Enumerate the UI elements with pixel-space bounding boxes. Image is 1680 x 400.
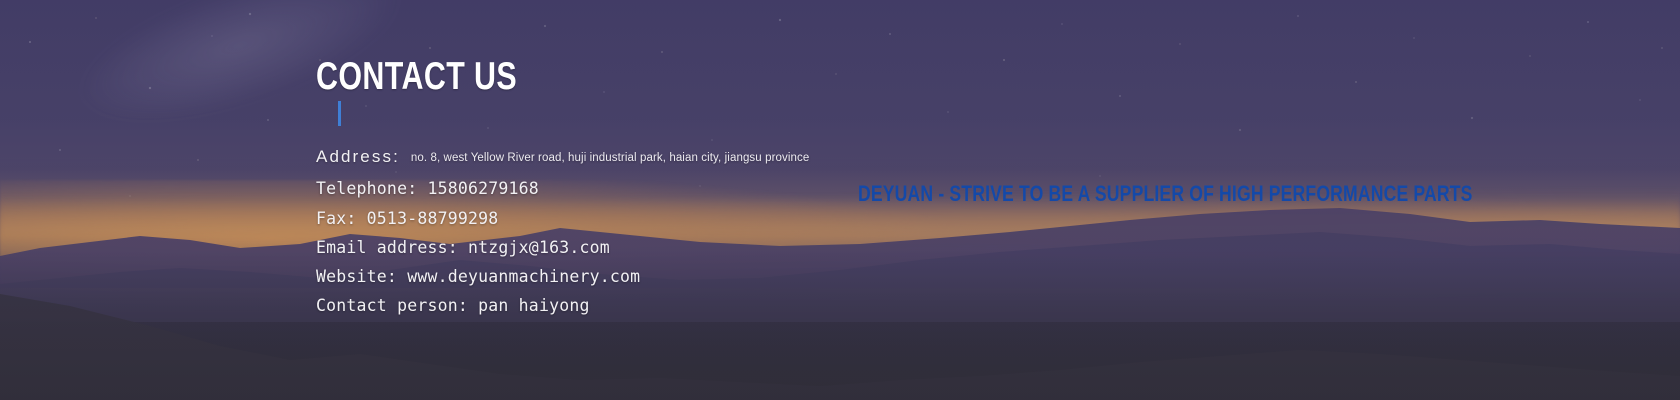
banner-content: CONTACT US Address: no. 8, west Yellow R…	[0, 0, 1680, 400]
contact-address-row: Address: no. 8, west Yellow River road, …	[316, 142, 809, 174]
title-accent-bar	[338, 101, 341, 126]
page-title: CONTACT US	[316, 57, 517, 96]
contact-email[interactable]: Email address: ntzgjx@163.com	[316, 233, 809, 262]
contact-fax: Fax: 0513-88799298	[316, 204, 809, 233]
company-slogan: DEYUAN - STRIVE TO BE A SUPPLIER OF HIGH…	[858, 183, 1473, 205]
contact-website[interactable]: Website: www.deyuanmachinery.com	[316, 262, 809, 291]
contact-person: Contact person: pan haiyong	[316, 291, 809, 320]
contact-banner: CONTACT US Address: no. 8, west Yellow R…	[0, 0, 1680, 400]
address-value: no. 8, west Yellow River road, huji indu…	[411, 144, 809, 173]
contact-telephone: Telephone: 15806279168	[316, 174, 809, 203]
contact-details: Address: no. 8, west Yellow River road, …	[316, 142, 809, 321]
address-label: Address:	[316, 142, 400, 171]
